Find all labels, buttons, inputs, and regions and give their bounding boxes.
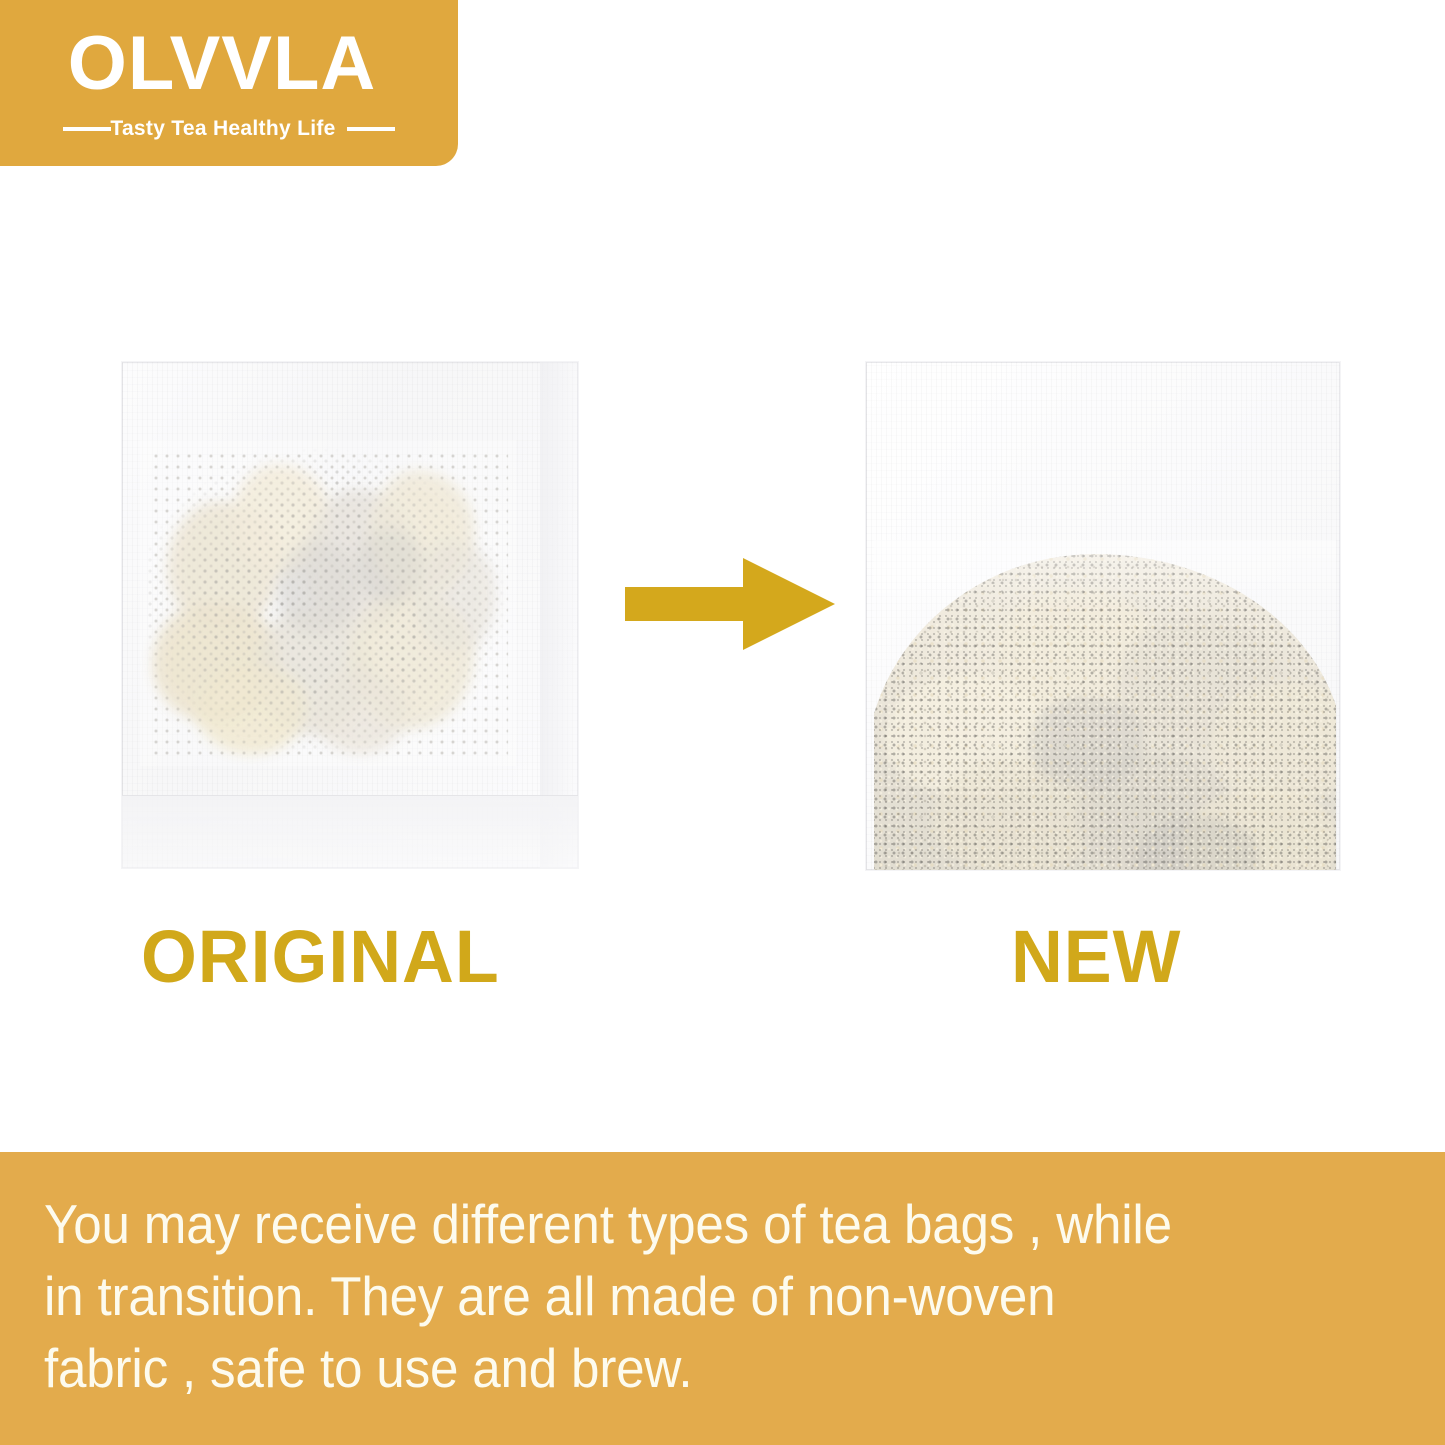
tagline-rule-left-icon [63,127,111,131]
tea-bag-new-image [866,362,1340,870]
bag-bottom-seal [122,795,578,868]
bag-side-seal [540,362,578,868]
brand-tagline: Tasty Tea Healthy Life [122,117,335,141]
tea-bag-original-image [122,362,578,868]
disclaimer-line-1: You may receive different types of tea b… [44,1188,1394,1260]
disclaimer-line-2: in transition. They are all made of non-… [44,1260,1394,1332]
tagline-rule-right-icon [347,127,395,131]
brand-logo-badge: OLVVLA Tasty Tea Healthy Life [0,0,458,166]
tea-mound-body [874,554,1336,870]
tea-granule-texture-fine [874,554,1336,870]
comparison-label-new: NEW [1011,918,1181,996]
tea-contents-mound [874,540,1336,870]
bag-translucency-veil [140,440,516,766]
disclaimer-banner: You may receive different types of tea b… [0,1152,1445,1445]
disclaimer-line-3: fabric , safe to use and brew. [44,1332,1394,1404]
tea-contents-flat [148,448,508,758]
brand-wordmark: OLVVLA [0,23,458,105]
product-comparison-image: OLVVLA Tasty Tea Healthy Life [0,0,1445,1445]
comparison-label-original: ORIGINAL [141,918,500,996]
right-arrow-icon [625,558,835,650]
brand-tagline-row: Tasty Tea Healthy Life [0,117,458,141]
